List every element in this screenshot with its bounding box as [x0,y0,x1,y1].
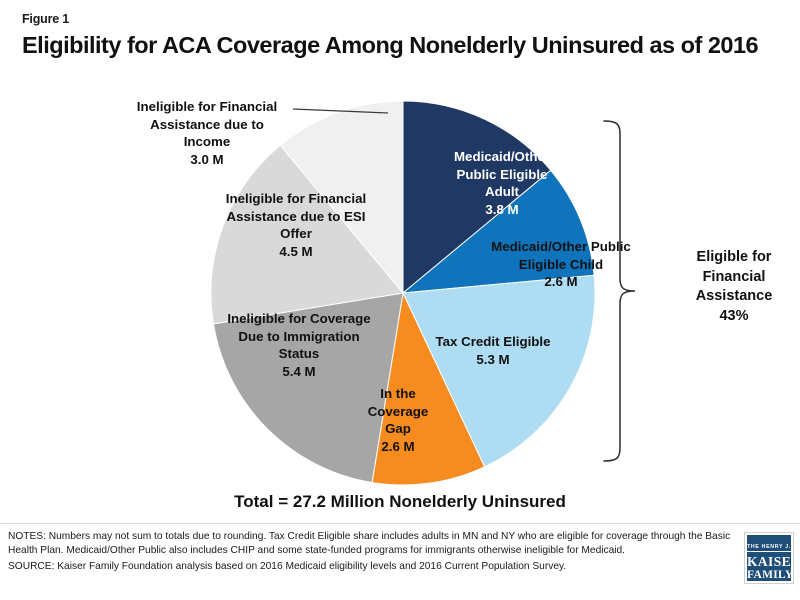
bracket-label-line1: Eligible for [672,248,796,268]
bracket-label-line2: Financial [672,268,796,288]
logo-line-1: THE HENRY J. [747,544,791,552]
slice-label-medicaid-child-line2: Eligible Child [455,256,667,274]
footer-divider [0,523,800,524]
slice-label-income-value: 3.0 M [112,151,302,169]
logo-line-3: FAMILY [747,569,791,581]
logo-line-2: KAISER [747,555,791,569]
slice-label-immigration-value: 5.4 M [196,363,402,381]
page-title: Eligibility for ACA Coverage Among Nonel… [22,32,782,59]
slice-label-coverage-gap-line3: Gap [352,420,444,438]
slice-label-immigration-line1: Ineligible for Coverage [196,310,402,328]
slice-label-income-line2: Assistance due to [112,116,302,134]
slice-label-medicaid-adult-value: 3.8 M [414,201,590,219]
slice-label-medicaid-adult: Medicaid/Other Public Eligible Adult 3.8… [414,148,590,218]
slice-label-tax-credit: Tax Credit Eligible 5.3 M [410,333,576,368]
slice-label-immigration-line3: Status [196,345,402,363]
slice-label-esi-value: 4.5 M [185,243,407,261]
slice-label-coverage-gap-line1: In the [352,385,444,403]
slice-label-tax-credit-line1: Tax Credit Eligible [410,333,576,351]
slice-label-esi-line3: Offer [185,225,407,243]
logo-line-4: FOUNDATION [747,581,791,583]
slice-label-tax-credit-value: 5.3 M [410,351,576,369]
slice-label-immigration: Ineligible for Coverage Due to Immigrati… [196,310,402,380]
chart-total-caption: Total = 27.2 Million Nonelderly Uninsure… [180,492,620,512]
title-divider [0,82,800,83]
slice-label-medicaid-child-value: 2.6 M [455,273,667,291]
footer-source-text: SOURCE: Kaiser Family Foundation analysi… [8,560,736,574]
slice-label-esi-line2: Assistance due to ESI [185,208,407,226]
chart-page: Figure 1 Eligibility for ACA Coverage Am… [0,0,800,600]
eligible-bracket [604,121,635,461]
slice-label-coverage-gap-line2: Coverage [352,403,444,421]
eligible-for-financial-assistance-annotation: Eligible for Financial Assistance 43% [672,248,796,326]
slice-label-coverage-gap: In the Coverage Gap 2.6 M [352,385,444,455]
slice-label-medicaid-child-line1: Medicaid/Other Public [455,238,667,256]
leader-line-income [293,109,388,113]
figure-label: Figure 1 [22,12,69,26]
footer-notes: NOTES: Numbers may not sum to totals due… [8,530,736,574]
bracket-label-line3: Assistance [672,287,796,307]
slice-label-income-line3: Income [112,133,302,151]
kaiser-family-foundation-logo: THE HENRY J. KAISER FAMILY FOUNDATION [745,533,793,583]
slice-label-medicaid-adult-line3: Adult [414,183,590,201]
bracket-label-percent: 43% [672,307,796,327]
footer-notes-text: NOTES: Numbers may not sum to totals due… [8,531,730,556]
slice-label-income-line1: Ineligible for Financial [112,98,302,116]
slice-label-income: Ineligible for Financial Assistance due … [112,98,302,168]
slice-label-esi: Ineligible for Financial Assistance due … [185,190,407,260]
slice-label-coverage-gap-value: 2.6 M [352,438,444,456]
slice-label-immigration-line2: Due to Immigration [196,328,402,346]
slice-label-esi-line1: Ineligible for Financial [185,190,407,208]
slice-label-medicaid-adult-line1: Medicaid/Other [414,148,590,166]
slice-label-medicaid-adult-line2: Public Eligible [414,166,590,184]
slice-label-medicaid-child: Medicaid/Other Public Eligible Child 2.6… [455,238,667,291]
